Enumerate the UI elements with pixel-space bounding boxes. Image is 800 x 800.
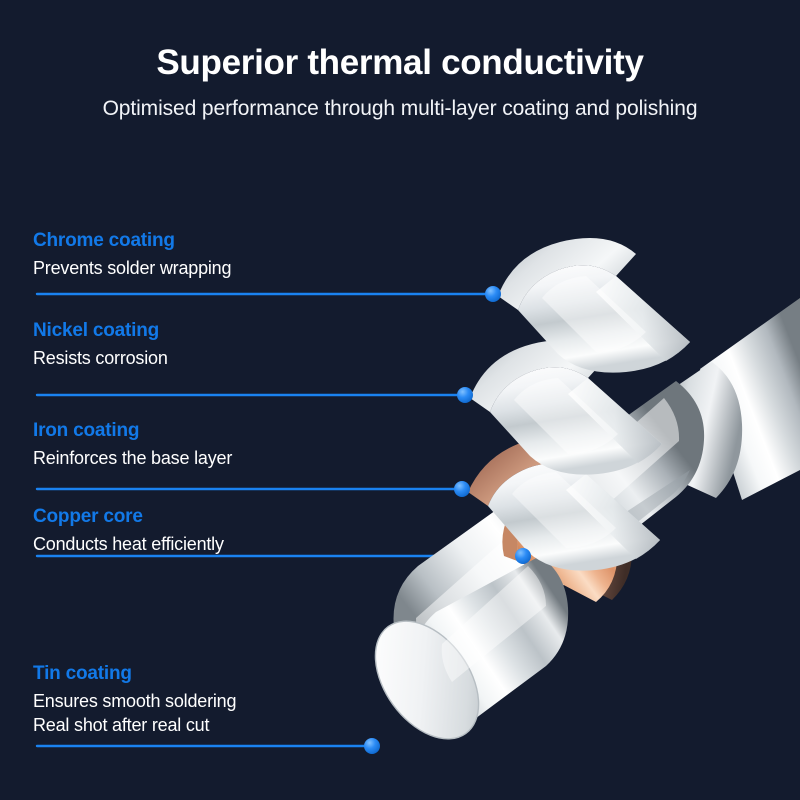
callout-nickel: Nickel coating Resists corrosion xyxy=(33,320,168,371)
marker-iron xyxy=(454,481,470,497)
callout-heading-copper: Copper core xyxy=(33,506,224,528)
callout-copper: Copper core Conducts heat efficiently xyxy=(33,506,224,557)
callout-iron: Iron coating Reinforces the base layer xyxy=(33,420,232,471)
callout-description-copper: Conducts heat efficiently xyxy=(33,528,224,557)
callout-chrome: Chrome coating Prevents solder wrapping xyxy=(33,230,231,281)
marker-tin xyxy=(364,738,380,754)
callout-heading-nickel: Nickel coating xyxy=(33,320,168,342)
callout-heading-tin: Tin coating xyxy=(33,663,236,685)
callout-description-tin-line2: Real shot after real cut xyxy=(33,714,236,738)
callout-description-iron: Reinforces the base layer xyxy=(33,442,232,471)
callout-description-nickel: Resists corrosion xyxy=(33,342,168,371)
marker-chrome xyxy=(485,286,501,302)
callout-heading-chrome: Chrome coating xyxy=(33,230,231,252)
callout-tin: Tin coating Ensures smooth soldering Rea… xyxy=(33,663,236,737)
callout-description-tin: Ensures smooth soldering xyxy=(33,685,236,714)
product-infographic: Superior thermal conductivity Optimised … xyxy=(0,0,800,800)
callout-heading-iron: Iron coating xyxy=(33,420,232,442)
marker-copper xyxy=(515,548,531,564)
callout-description-chrome: Prevents solder wrapping xyxy=(33,252,231,281)
marker-nickel xyxy=(457,387,473,403)
